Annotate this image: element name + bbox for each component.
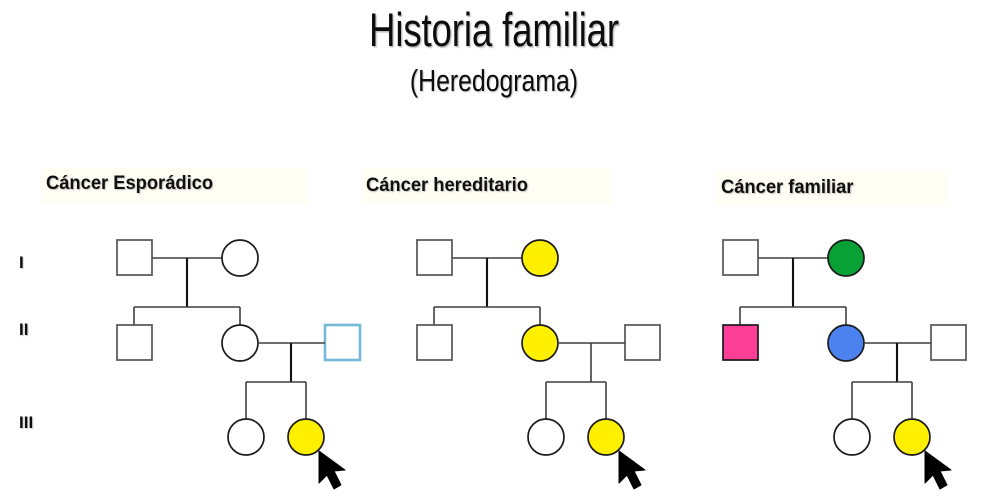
heading-familial: Cáncer familiar (721, 174, 853, 200)
page-subtitle: (Heredograma) (99, 62, 889, 100)
pedigree-hereditary (395, 225, 700, 500)
page-title: Historia familiar (109, 2, 880, 58)
heading-hereditary: Cáncer hereditario (366, 172, 528, 198)
title-block: Historia familiar (Heredograma) (0, 2, 988, 100)
individual-gen2-son[interactable] (723, 325, 758, 360)
individual-gen3-daughter-1[interactable] (528, 419, 564, 455)
individual-gen1-mother[interactable] (522, 240, 558, 276)
proband-arrow-icon (619, 451, 645, 489)
individual-gen3-proband[interactable] (894, 419, 930, 455)
individual-gen3-daughter-1[interactable] (228, 419, 264, 455)
individual-gen2-spouse[interactable] (625, 325, 660, 360)
individual-gen1-father[interactable] (417, 240, 452, 275)
individual-gen1-mother[interactable] (828, 240, 864, 276)
individual-gen2-daughter[interactable] (828, 325, 864, 361)
individual-gen3-proband[interactable] (588, 419, 624, 455)
individual-gen3-daughter-1[interactable] (834, 419, 870, 455)
individual-gen2-spouse[interactable] (325, 325, 360, 360)
individual-gen1-father[interactable] (117, 240, 152, 275)
pedigree-sporadic (0, 225, 395, 500)
proband-arrow-icon (925, 451, 951, 489)
pedigree-familial (700, 225, 988, 500)
individual-gen2-daughter[interactable] (222, 325, 258, 361)
individual-gen1-mother[interactable] (222, 240, 258, 276)
individual-gen3-proband[interactable] (288, 419, 324, 455)
individual-gen2-son[interactable] (117, 325, 152, 360)
individual-gen2-son[interactable] (417, 325, 452, 360)
individual-gen2-spouse[interactable] (931, 325, 966, 360)
proband-arrow-icon (319, 451, 345, 489)
heading-sporadic: Cáncer Esporádico (46, 170, 213, 196)
individual-gen1-father[interactable] (723, 240, 758, 275)
individual-gen2-daughter[interactable] (522, 325, 558, 361)
